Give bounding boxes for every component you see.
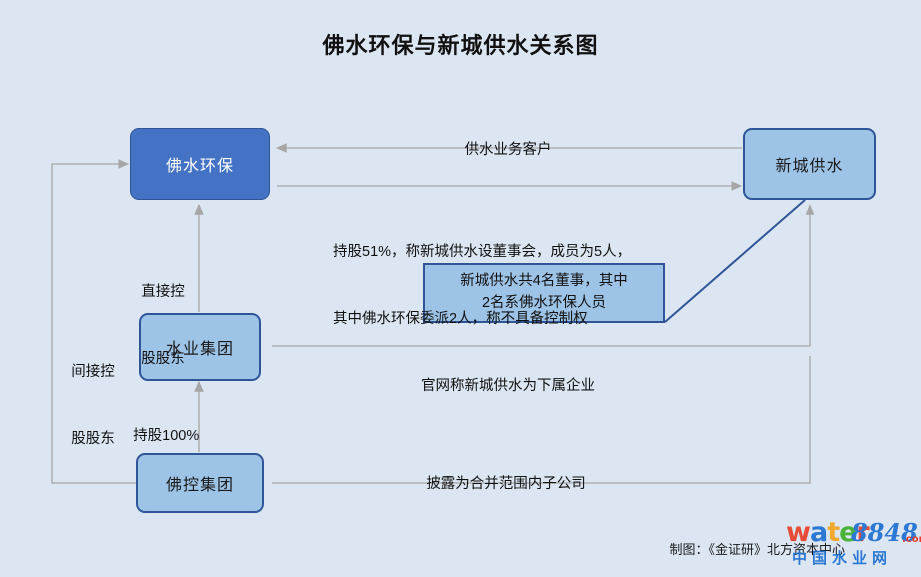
label-indirect-holder: 间接控 股股东 [62,316,124,496]
label-disclosure: 披露为合并范围内子公司 [383,451,613,518]
label-supply-customer: 供水业务客户 [390,117,610,184]
label-holding-100: 持股100% [117,403,199,470]
label-line-1: 直接控 [132,281,194,303]
callout-leader-line [665,200,805,322]
watermark-tld: .com [902,534,921,545]
label-direct-holder: 直接控 股股东 [132,236,194,416]
label-official-site: 官网称新城供水为下属企业 [375,353,625,420]
label-text: 持股100% [133,428,199,444]
label-text: 官网称新城供水为下属企业 [421,378,595,394]
node-xincheng-gongshui[interactable]: 新城供水 [743,128,876,200]
node-label: 新城供水 [775,152,843,176]
node-label: 佛控集团 [166,471,234,495]
watermark-letter-a: a [810,519,827,546]
node-fushui-huanbao[interactable]: 佛水环保 [130,128,270,200]
watermark-chinese-name: 中国水业网 [792,547,892,568]
label-line-2: 其中佛水环保委派2人，称不具备控制权 [333,308,631,330]
watermark-letter-t: t [827,519,839,546]
watermark-water8848: water 8848 .com 中国水业网 [786,519,918,569]
label-line-1: 持股51%，称新城供水设董事会，成员为5人， [333,241,631,263]
diagram-canvas: 佛水环保与新城供水关系图 佛水环保 新城供水 水业集团 佛控集团 新城供水共4名… [0,0,921,577]
label-line-1: 间接控 [62,361,124,383]
label-text: 披露为合并范围内子公司 [426,476,586,492]
watermark-letter-w: w [786,519,810,546]
label-line-2: 股股东 [62,428,124,450]
label-line-2: 股股东 [132,348,194,370]
page-title: 佛水环保与新城供水关系图 [0,28,921,60]
label-holding-51: 持股51%，称新城供水设董事会，成员为5人， 其中佛水环保委派2人，称不具备控制… [333,196,631,376]
node-label: 佛水环保 [166,152,234,176]
label-text: 供水业务客户 [465,142,552,158]
